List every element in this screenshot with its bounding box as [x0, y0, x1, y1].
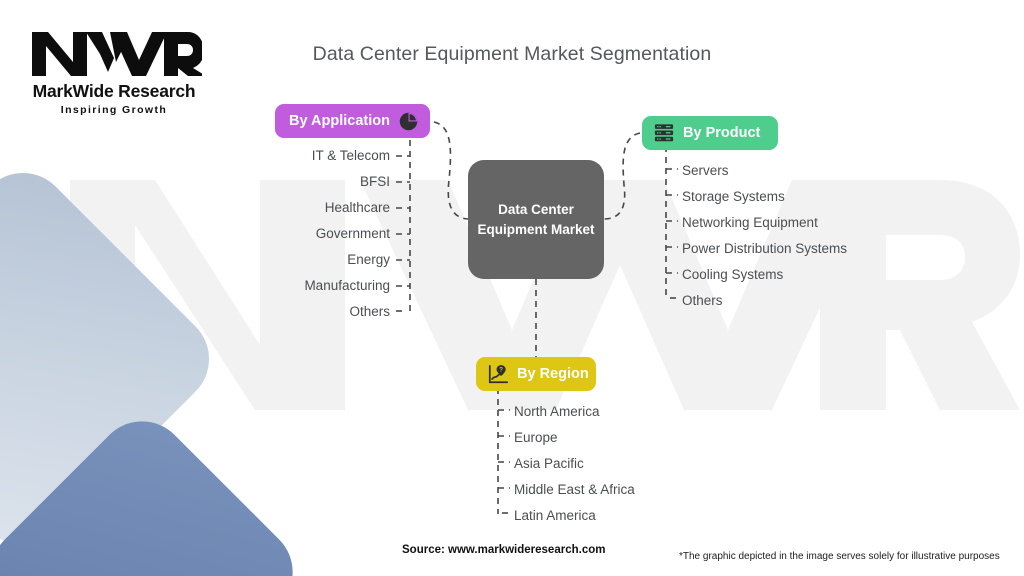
- badge-by-region-label: By Region: [517, 366, 589, 382]
- list-item: Manufacturing: [304, 273, 390, 299]
- list-item: Others: [349, 299, 390, 325]
- infographic-canvas: MarkWide Research Inspiring Growth Data …: [0, 0, 1024, 576]
- server-rack-icon: [653, 123, 675, 143]
- list-item: Middle East & Africa: [514, 477, 635, 503]
- list-item: Asia Pacific: [514, 451, 584, 477]
- badge-by-application-label: By Application: [289, 113, 390, 129]
- source-note: Source: www.markwideresearch.com: [402, 544, 605, 556]
- list-by-region: North America Europe Asia Pacific Middle…: [514, 399, 635, 529]
- list-item: Networking Equipment: [682, 210, 818, 236]
- brand-logo: MarkWide Research Inspiring Growth: [26, 28, 202, 116]
- map-analytics-icon: ?: [487, 364, 509, 385]
- badge-by-product-label: By Product: [683, 125, 760, 141]
- list-item: North America: [514, 399, 600, 425]
- list-by-product: Servers Storage Systems Networking Equip…: [682, 158, 847, 314]
- svg-text:?: ?: [499, 366, 503, 373]
- list-item: Power Distribution Systems: [682, 236, 847, 262]
- list-item: Latin America: [514, 503, 596, 529]
- brand-tagline: Inspiring Growth: [26, 104, 202, 116]
- list-by-application: IT & Telecom BFSI Healthcare Government …: [180, 143, 390, 325]
- brand-name: MarkWide Research: [26, 81, 202, 102]
- connector-product: [604, 133, 640, 219]
- badge-by-application[interactable]: By Application: [275, 104, 430, 138]
- list-item: Healthcare: [325, 195, 390, 221]
- list-item: Others: [682, 288, 723, 314]
- center-node: Data Center Equipment Market: [468, 160, 604, 279]
- decorative-square-dark: [0, 402, 312, 576]
- connector-application: [434, 122, 468, 219]
- pie-chart-icon: [398, 111, 419, 132]
- disclaimer-note: *The graphic depicted in the image serve…: [679, 551, 1000, 562]
- list-item: Europe: [514, 425, 558, 451]
- badge-by-region[interactable]: ? By Region: [476, 357, 596, 391]
- page-title: Data Center Equipment Market Segmentatio…: [0, 43, 1024, 66]
- list-item: Cooling Systems: [682, 262, 783, 288]
- list-item: Government: [316, 221, 390, 247]
- list-item: BFSI: [360, 169, 390, 195]
- list-item: IT & Telecom: [312, 143, 390, 169]
- list-item: Energy: [347, 247, 390, 273]
- list-item: Storage Systems: [682, 184, 785, 210]
- badge-by-product[interactable]: By Product: [642, 116, 778, 150]
- list-item: Servers: [682, 158, 729, 184]
